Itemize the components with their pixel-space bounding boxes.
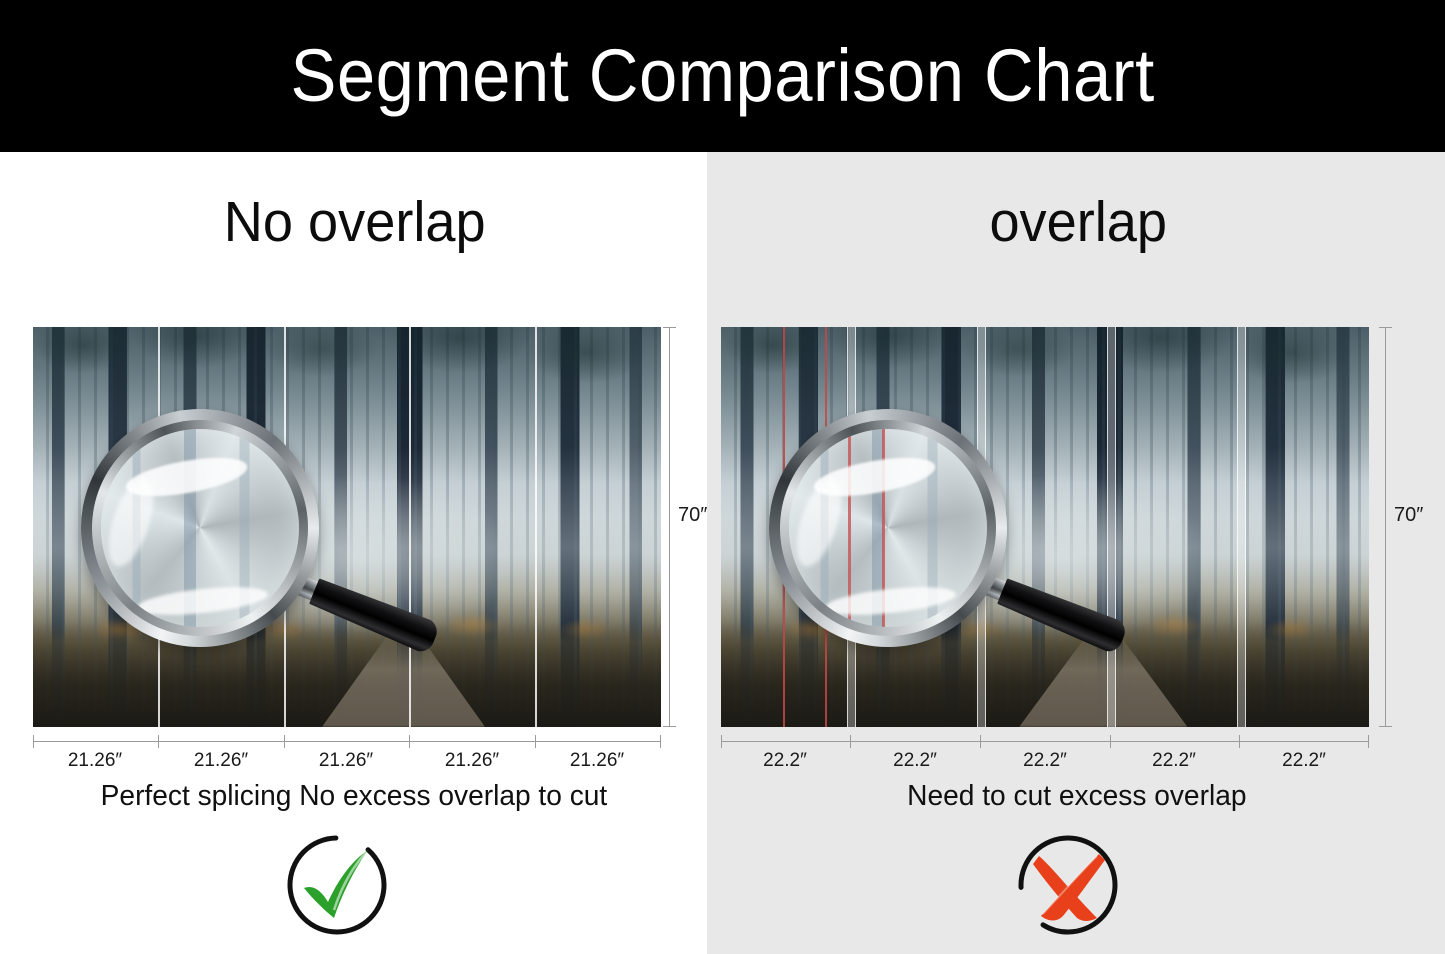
check-mark-icon <box>282 830 392 940</box>
height-label: 70″ <box>678 504 707 527</box>
cross-mark-icon <box>1013 830 1123 940</box>
dimension-cap <box>663 327 676 328</box>
dimension-tick <box>980 735 981 748</box>
dimension-tick <box>850 735 851 748</box>
segment-width-label: 22.2″ <box>1152 750 1196 772</box>
panel-overlap: overlap <box>707 152 1445 954</box>
segment-width-label: 21.26″ <box>319 750 373 772</box>
page-title: Segment Comparison Chart <box>290 39 1154 113</box>
dimension-tick <box>1368 735 1369 748</box>
height-dimension-line <box>669 327 670 727</box>
mural-figure-no-overlap <box>33 327 661 727</box>
dimension-cap <box>1379 726 1392 727</box>
height-dimension-line <box>1385 327 1386 727</box>
panel-caption-no-overlap: Perfect splicing No excess overlap to cu… <box>11 782 726 811</box>
dimension-tick <box>284 735 285 748</box>
dimension-tick <box>535 735 536 748</box>
dimension-cap <box>1379 327 1392 328</box>
panel-caption-overlap: Need to cut excess overlap <box>719 782 1445 811</box>
mural-canopy-layer <box>33 327 661 511</box>
dimension-tick <box>660 735 661 748</box>
width-dimension-line: 22.2″ 22.2″ 22.2″ 22.2″ 22.2″ <box>721 741 1369 742</box>
dimension-tick <box>721 735 722 748</box>
comparison-panels: No overlap <box>0 152 1445 954</box>
height-label: 70″ <box>1394 504 1423 527</box>
mural-figure-overlap <box>721 327 1369 727</box>
segment-width-label: 21.26″ <box>194 750 248 772</box>
dimension-tick <box>409 735 410 748</box>
segment-width-label: 21.26″ <box>445 750 499 772</box>
forest-mural-image <box>721 327 1369 727</box>
segment-width-label: 21.26″ <box>570 750 624 772</box>
forest-mural-image <box>33 327 661 727</box>
width-dimension-line: 21.26″ 21.26″ 21.26″ 21.26″ 21.26″ <box>33 741 661 742</box>
mural-canopy-layer <box>721 327 1369 511</box>
segment-width-label: 21.26″ <box>68 750 122 772</box>
dimension-tick <box>158 735 159 748</box>
segment-width-label: 22.2″ <box>1023 750 1067 772</box>
panel-heading-overlap: overlap <box>728 194 1445 251</box>
dimension-tick <box>33 735 34 748</box>
panel-heading-no-overlap: No overlap <box>19 194 736 251</box>
panel-no-overlap: No overlap <box>0 152 707 954</box>
dimension-tick <box>1239 735 1240 748</box>
dimension-cap <box>663 726 676 727</box>
segment-width-label: 22.2″ <box>763 750 807 772</box>
title-banner: Segment Comparison Chart <box>0 0 1445 152</box>
segment-width-label: 22.2″ <box>893 750 937 772</box>
dimension-tick <box>1110 735 1111 748</box>
segment-comparison-chart: Segment Comparison Chart No overlap <box>0 0 1445 954</box>
segment-width-label: 22.2″ <box>1282 750 1326 772</box>
